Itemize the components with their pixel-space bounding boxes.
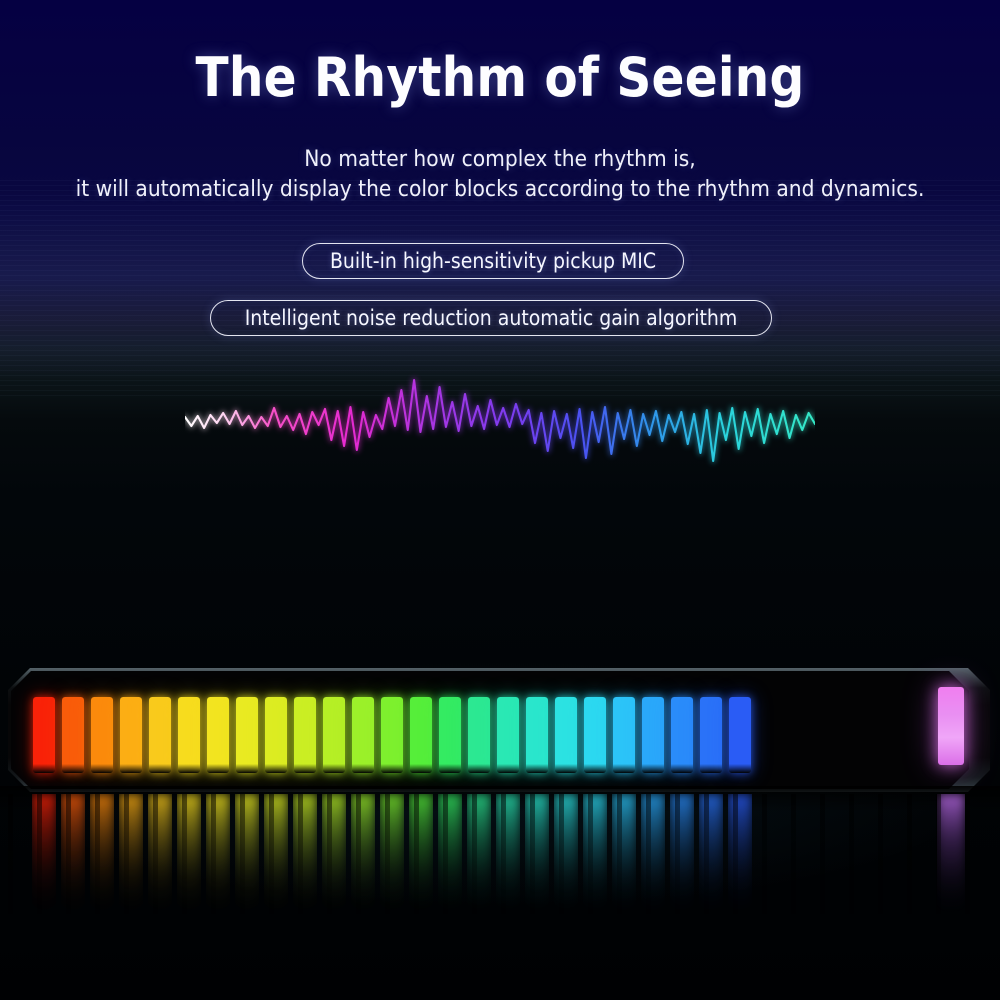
led-segment bbox=[91, 697, 113, 773]
led-segment bbox=[584, 697, 606, 773]
led-segment bbox=[729, 697, 751, 773]
led-segment bbox=[207, 697, 229, 773]
led-segment bbox=[468, 697, 490, 773]
feature-badge-pickup-mic: Built-in high-sensitivity pickup MIC bbox=[302, 243, 684, 279]
led-segment bbox=[236, 697, 258, 773]
led-segment bbox=[555, 697, 577, 773]
led-segment bbox=[323, 697, 345, 773]
led-segment bbox=[33, 697, 55, 773]
pink-led bbox=[938, 687, 964, 765]
rgb-rhythm-light-device bbox=[8, 668, 990, 792]
background-scanlines bbox=[0, 180, 1000, 400]
page-subtitle: No matter how complex the rhythm is, it … bbox=[0, 144, 1000, 204]
audio-waveform bbox=[185, 368, 815, 472]
led-segment bbox=[120, 697, 142, 773]
subtitle-line-1: No matter how complex the rhythm is, bbox=[0, 144, 1000, 174]
led-segment bbox=[497, 697, 519, 773]
led-segment bbox=[62, 697, 84, 773]
page-title: The Rhythm of Seeing bbox=[0, 47, 1000, 109]
feature-badge-noise-reduction: Intelligent noise reduction automatic ga… bbox=[210, 300, 772, 336]
led-segment bbox=[265, 697, 287, 773]
led-segment bbox=[671, 697, 693, 773]
led-segment-row bbox=[8, 668, 990, 792]
led-segment bbox=[613, 697, 635, 773]
led-segment bbox=[526, 697, 548, 773]
led-segment bbox=[149, 697, 171, 773]
led-segment bbox=[178, 697, 200, 773]
subtitle-line-2: it will automatically display the color … bbox=[0, 174, 1000, 204]
led-segment bbox=[381, 697, 403, 773]
led-segment bbox=[439, 697, 461, 773]
product-marketing-image: The Rhythm of Seeing No matter how compl… bbox=[0, 0, 1000, 1000]
led-reflection bbox=[8, 794, 990, 930]
led-segment bbox=[642, 697, 664, 773]
led-segment bbox=[294, 697, 316, 773]
reflection-stripes bbox=[8, 794, 990, 914]
led-segment bbox=[410, 697, 432, 773]
led-segment bbox=[352, 697, 374, 773]
led-segment bbox=[700, 697, 722, 773]
